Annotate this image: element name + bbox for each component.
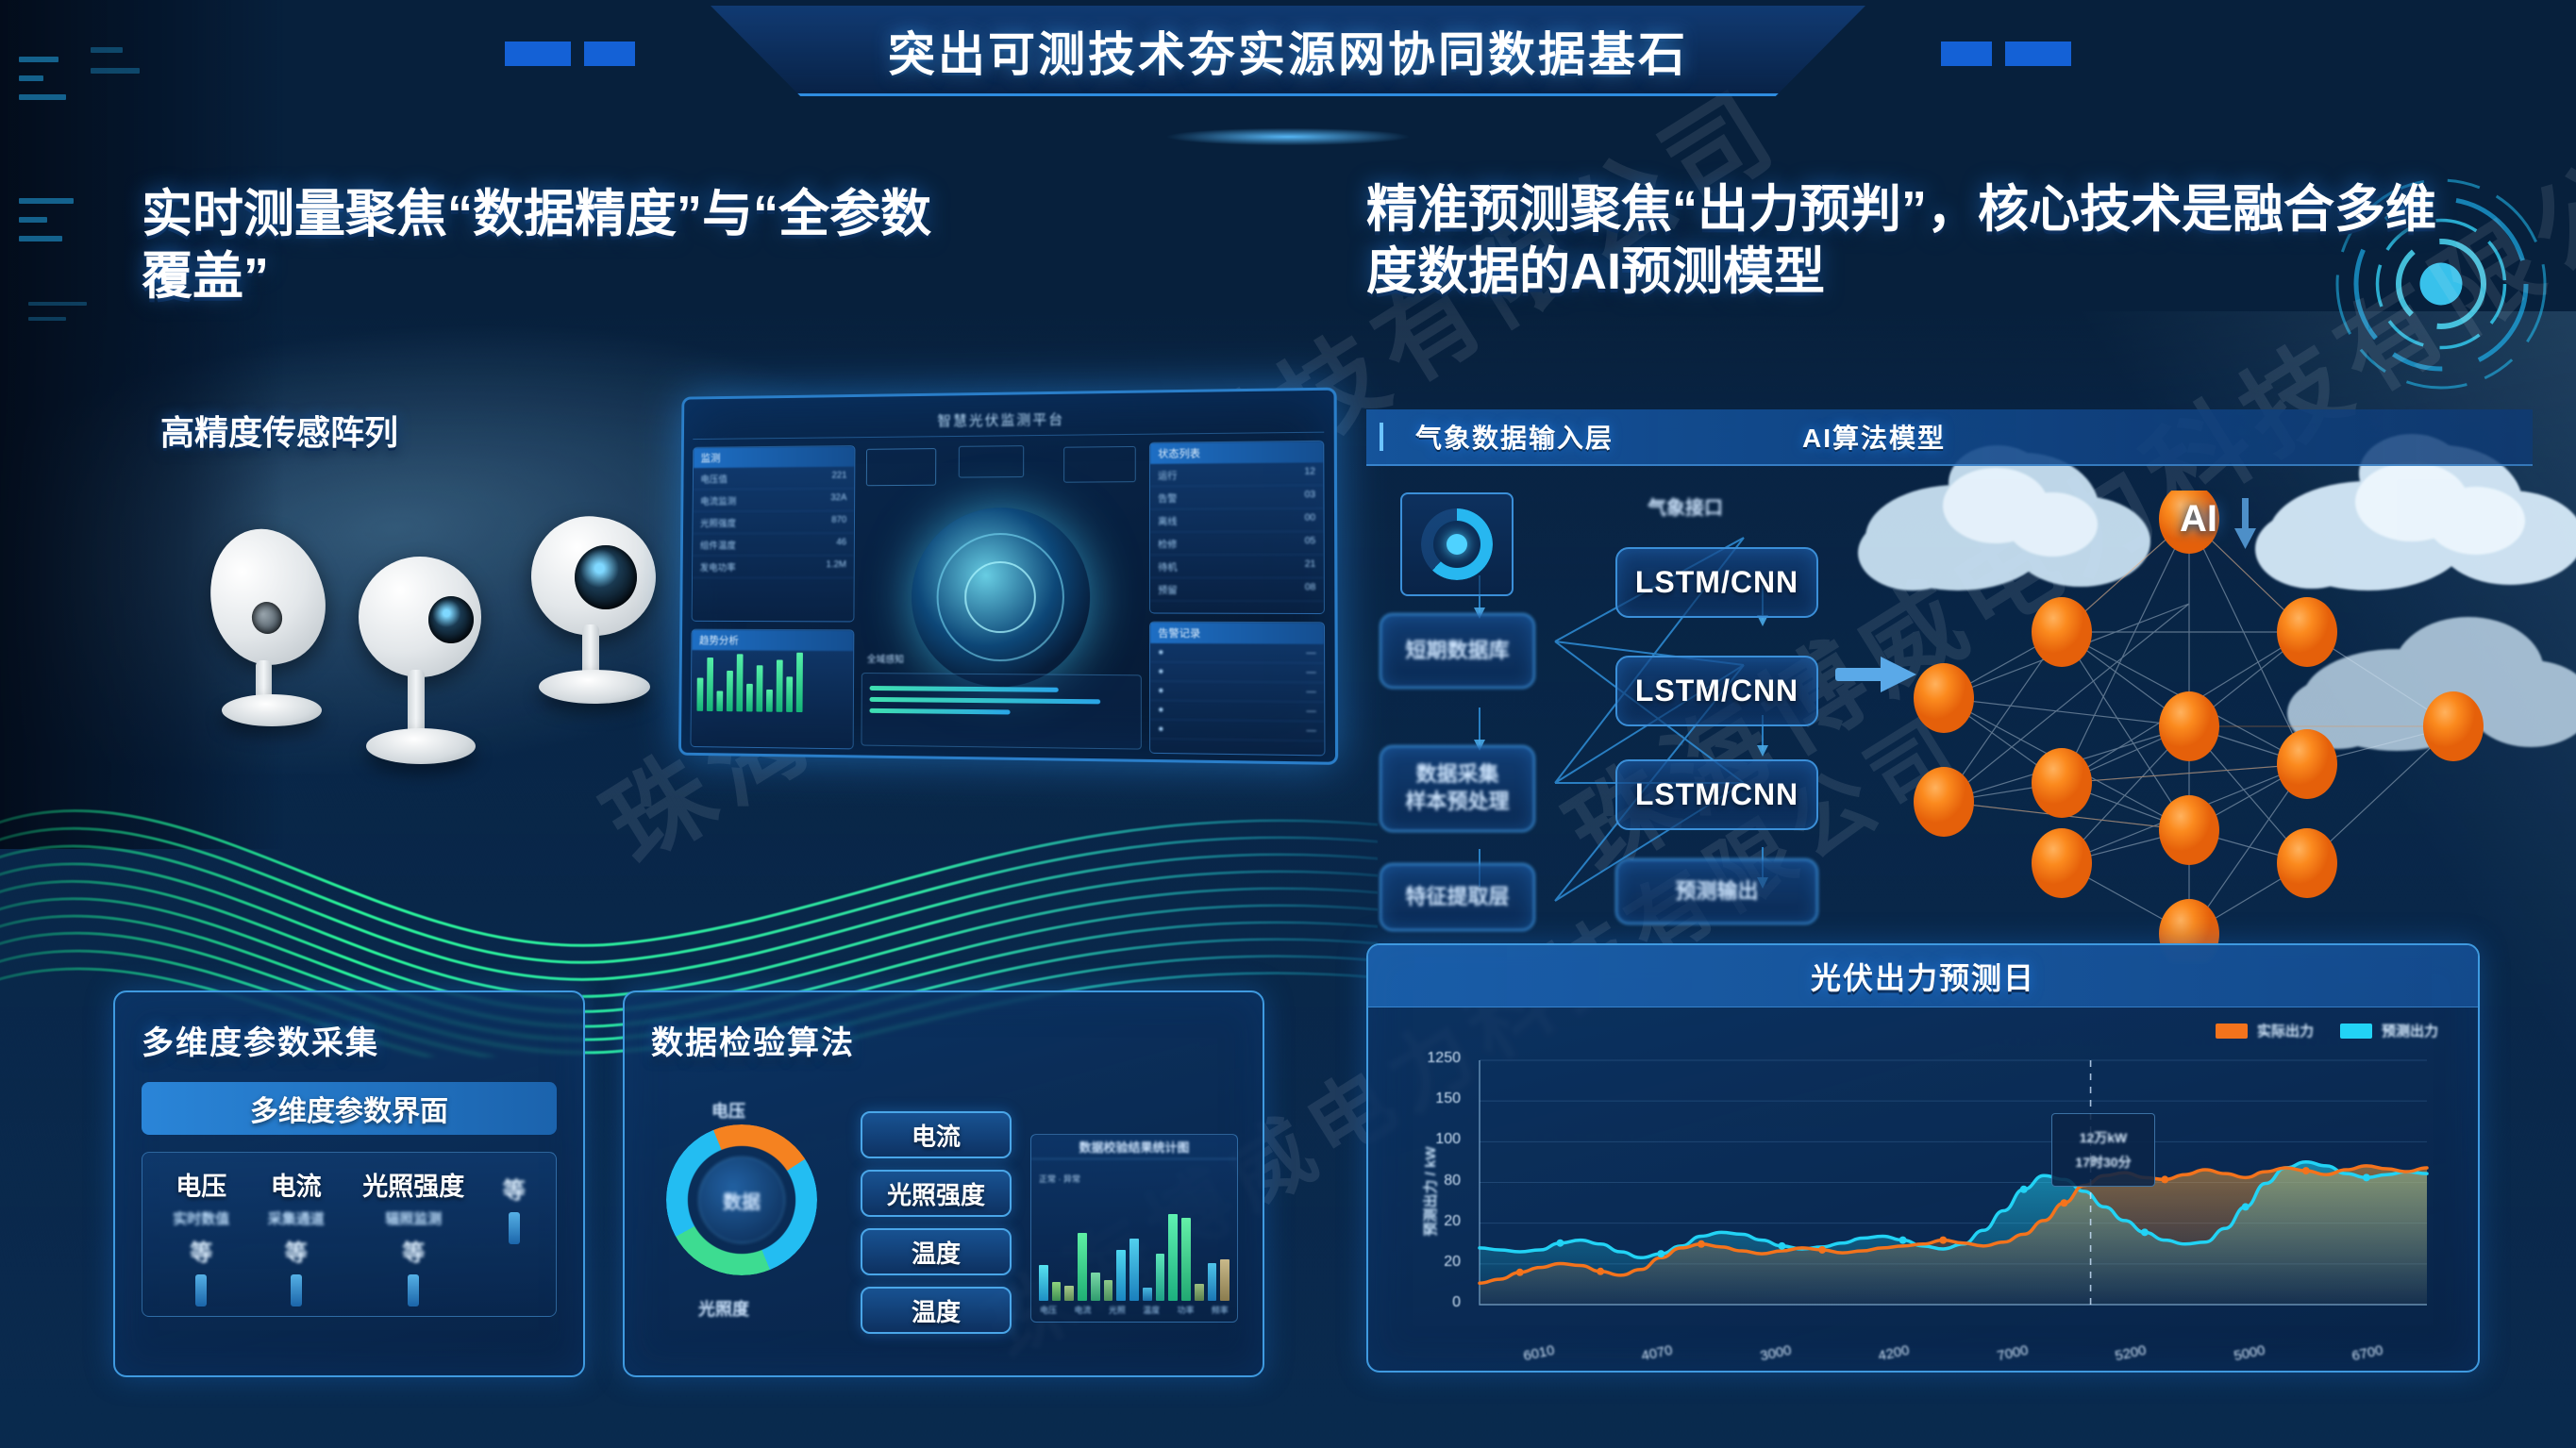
- parameter-value: 等: [362, 1234, 464, 1267]
- card-data-verification-algorithm: 数据检验算法 电压 数据 光照度 电流 光照强度 温度 温度 数据校验结果统计图…: [623, 990, 1264, 1377]
- legend-item-forecast[interactable]: 预测出力: [2340, 1021, 2438, 1040]
- dashboard-right-panel[interactable]: 状态列表 运行12 告警03 离线00 检修05 待机21 预留08: [1149, 441, 1325, 614]
- dashboard-center-label: 全域感知: [867, 651, 904, 665]
- dashboard-progress-list: [861, 673, 1141, 750]
- dashboard-kpi-tile: [866, 448, 936, 486]
- dashboard-alarm-panel[interactable]: 告警记录 ●— ●— ●— ●— ●—: [1149, 622, 1326, 757]
- dashboard-title: 智慧光伏监测平台: [937, 409, 1064, 431]
- ai-flow-header-bar: 气象数据输入层 AI算法模型: [1366, 409, 2533, 466]
- chart-y-tick: 100: [1404, 1131, 1461, 1148]
- donut-chart: 数据: [666, 1124, 836, 1294]
- chart-y-tick: 1250: [1404, 1050, 1461, 1067]
- parameter-current[interactable]: 电流 采集通道 等: [268, 1166, 325, 1307]
- tag-temperature-2[interactable]: 温度: [861, 1287, 1012, 1334]
- tooltip-line-1: 12万kW: [2080, 1128, 2128, 1147]
- parameter-panel: 电压 实时数值 等 电流 采集通道 等 光照强度 辐照监测 等 等: [142, 1152, 557, 1317]
- verification-mini-bar-chart: 数据校验结果统计图 正常 · 异常 电压 电流 光照 温度: [1030, 1134, 1238, 1323]
- dashboard-mini-bars: [692, 650, 854, 716]
- list-item: 待机21: [1150, 555, 1324, 578]
- dashboard-left-panel-title: 监测: [694, 446, 854, 468]
- dashboard-body: 监测 电压值221 电流监测32A 光照强度870 组件温度46 发电功率1.2…: [690, 433, 1325, 757]
- chart-y-tick: 80: [1404, 1173, 1461, 1190]
- parameter-voltage[interactable]: 电压 实时数值 等: [173, 1166, 229, 1307]
- mini-chart-title: 数据校验结果统计图: [1031, 1135, 1237, 1159]
- sensor-device-camera-round: [349, 557, 528, 774]
- table-row: 电压值221: [694, 467, 855, 491]
- parameter-name: 电压: [173, 1166, 229, 1203]
- donut-label-irradiance: 光照度: [698, 1296, 749, 1321]
- mini-chart-axis: 电压 电流 光照 温度 功率 频率: [1031, 1301, 1237, 1316]
- legend-item-actual[interactable]: 实际出力: [2216, 1021, 2314, 1040]
- card-multidimensional-collection: 多维度参数采集 多维度参数界面 电压 实时数值 等 电流 采集通道 等 光照强度…: [113, 990, 585, 1377]
- ai-model-label: AI算法模型: [1802, 418, 1946, 456]
- parameter-sub: 采集通道: [268, 1208, 325, 1228]
- title-wing-right: [1920, 42, 2071, 66]
- table-row: 光照强度870: [693, 511, 854, 534]
- chart-legend: 实际出力 预测出力: [2216, 1021, 2438, 1040]
- gauge-center-dot-icon: [1447, 534, 1467, 555]
- donut-center-label: 数据: [698, 1157, 785, 1243]
- parameter-sub: 实时数值: [173, 1208, 229, 1228]
- legend-swatch-forecast: [2340, 1024, 2372, 1039]
- bar-accent-tick: [1380, 423, 1383, 451]
- legend-swatch-actual: [2216, 1024, 2248, 1039]
- list-item: ●—: [1150, 720, 1324, 741]
- tag-current[interactable]: 电流: [861, 1111, 1012, 1158]
- chart-y-tick: 20: [1404, 1213, 1461, 1230]
- card-title: 多维度参数采集: [142, 1017, 557, 1063]
- model-box-lstm-2[interactable]: LSTM/CNN: [1615, 656, 1818, 726]
- card-title: 数据检验算法: [651, 1017, 1236, 1063]
- ai-node-label: AI: [2180, 498, 2217, 541]
- list-item: ●—: [1150, 662, 1324, 683]
- forecast-chart-header: 光伏出力预测日: [1368, 945, 2478, 1007]
- forecast-chart-plot: 实际出力 预测出力 预测出力 / kW: [1368, 1007, 2478, 1373]
- input-box-dataset[interactable]: 短期数据库: [1380, 613, 1535, 689]
- list-item: ●—: [1150, 643, 1324, 664]
- list-item: 离线00: [1150, 508, 1324, 532]
- neural-network-diagram: [1887, 491, 2576, 962]
- chart-y-tick: 0: [1404, 1294, 1461, 1311]
- input-box-preprocess[interactable]: 数据采集 样本预处理: [1380, 745, 1535, 832]
- left-section-heading: 实时测量聚焦“数据精度”与“全参数覆盖”: [142, 184, 953, 308]
- dashboard-kpi-tile: [959, 445, 1024, 477]
- parameter-row: 电压 实时数值 等 电流 采集通道 等 光照强度 辐照监测 等 等: [154, 1166, 544, 1307]
- parameter-meter-icon: [195, 1274, 207, 1307]
- multidimensional-interface-button[interactable]: 多维度参数界面: [142, 1082, 557, 1135]
- legend-label-actual: 实际出力: [2257, 1021, 2314, 1040]
- parameter-value: 等: [503, 1172, 526, 1205]
- parameter-sub: 辐照监测: [362, 1208, 464, 1228]
- dashboard-alarm-title: 告警记录: [1150, 623, 1324, 644]
- weather-interface-note: 气象接口: [1648, 492, 1723, 520]
- chart-y-tick: 150: [1404, 1090, 1461, 1107]
- tag-irradiance[interactable]: 光照强度: [861, 1170, 1012, 1217]
- weather-gauge-tile: [1400, 492, 1514, 596]
- parameter-meter-icon: [509, 1212, 520, 1244]
- forecast-area-chart: [1368, 1007, 2480, 1373]
- list-item: 告警03: [1150, 486, 1324, 509]
- chart-y-tick: 20: [1404, 1254, 1461, 1271]
- parameter-extra[interactable]: 等: [503, 1166, 526, 1244]
- verification-tag-list: 电流 光照强度 温度 温度: [861, 1111, 1012, 1345]
- model-box-lstm-1[interactable]: LSTM/CNN: [1615, 547, 1818, 618]
- sensor-device-camera-lens: [524, 517, 703, 724]
- donut-label-voltage: 电压: [711, 1098, 745, 1123]
- dashboard-right-panel-title: 状态列表: [1150, 441, 1323, 464]
- parameter-value: 等: [173, 1234, 229, 1267]
- forecast-chart-title: 光伏出力预测日: [1811, 955, 2035, 998]
- tooltip-line-2: 17时30分: [2075, 1153, 2131, 1172]
- list-item: 预留08: [1150, 578, 1324, 602]
- dashboard-kpi-tile: [1063, 446, 1136, 483]
- flow-arrow-right-icon: [1835, 651, 1920, 702]
- parameter-value: 等: [268, 1234, 325, 1267]
- weather-input-layer-label: 气象数据输入层: [1415, 418, 1614, 456]
- page-title-bar: 突出可测技术夯实源网协同数据基石: [646, 6, 1930, 96]
- right-section-heading: 精准预测聚焦“出力预判”，核心技术是融合多维度数据的AI预测模型: [1366, 179, 2480, 304]
- dashboard-trend-panel[interactable]: 趋势分析: [690, 629, 854, 750]
- model-box-lstm-3[interactable]: LSTM/CNN: [1615, 759, 1818, 830]
- parameter-meter-icon: [291, 1274, 302, 1307]
- list-item: 运行12: [1150, 462, 1323, 487]
- monitoring-dashboard-screen[interactable]: 智慧光伏监测平台 监测 电压值221 电流监测32A 光照强度870 组件温度4…: [678, 388, 1338, 765]
- parameter-meter-icon: [408, 1274, 419, 1307]
- parameter-name: 光照强度: [362, 1166, 464, 1203]
- globe-visual-icon: [912, 508, 1091, 688]
- model-box-output[interactable]: 预测输出: [1615, 858, 1818, 924]
- dashboard-center: 全域感知: [861, 442, 1141, 754]
- list-item: ●—: [1150, 701, 1324, 722]
- title-wing-left: [505, 42, 656, 66]
- dashboard-left-panel[interactable]: 监测 电压值221 电流监测32A 光照强度870 组件温度46 发电功率1.2…: [692, 445, 856, 622]
- table-row: 电流监测32A: [694, 489, 855, 512]
- card-pv-output-forecast: 光伏出力预测日 实际出力 预测出力 预测出力 / kW: [1366, 943, 2480, 1373]
- legend-label-forecast: 预测出力: [2382, 1021, 2438, 1040]
- dashboard-trend-title: 趋势分析: [692, 630, 853, 652]
- mini-bars: [1031, 1188, 1237, 1301]
- sensor-device-dish: [203, 528, 373, 726]
- chart-tooltip: 12万kW 17时30分: [2051, 1113, 2155, 1187]
- list-item: 检修05: [1150, 532, 1324, 556]
- tag-temperature-1[interactable]: 温度: [861, 1228, 1012, 1275]
- mini-chart-legend: 正常 · 异常: [1039, 1173, 1080, 1185]
- parameter-name: 电流: [268, 1166, 325, 1203]
- input-box-feature[interactable]: 特征提取层: [1380, 863, 1535, 931]
- table-row: 组件温度46: [693, 534, 854, 557]
- title-glow: [1118, 125, 1458, 149]
- page-title: 突出可测技术夯实源网协同数据基石: [888, 17, 1688, 85]
- parameter-irradiance[interactable]: 光照强度 辐照监测 等: [362, 1166, 464, 1307]
- sensor-array-label: 高精度传感阵列: [160, 406, 398, 455]
- arrow-down-icon: [2232, 498, 2260, 553]
- list-item: ●—: [1150, 682, 1324, 703]
- table-row: 发电功率1.2M: [693, 556, 854, 578]
